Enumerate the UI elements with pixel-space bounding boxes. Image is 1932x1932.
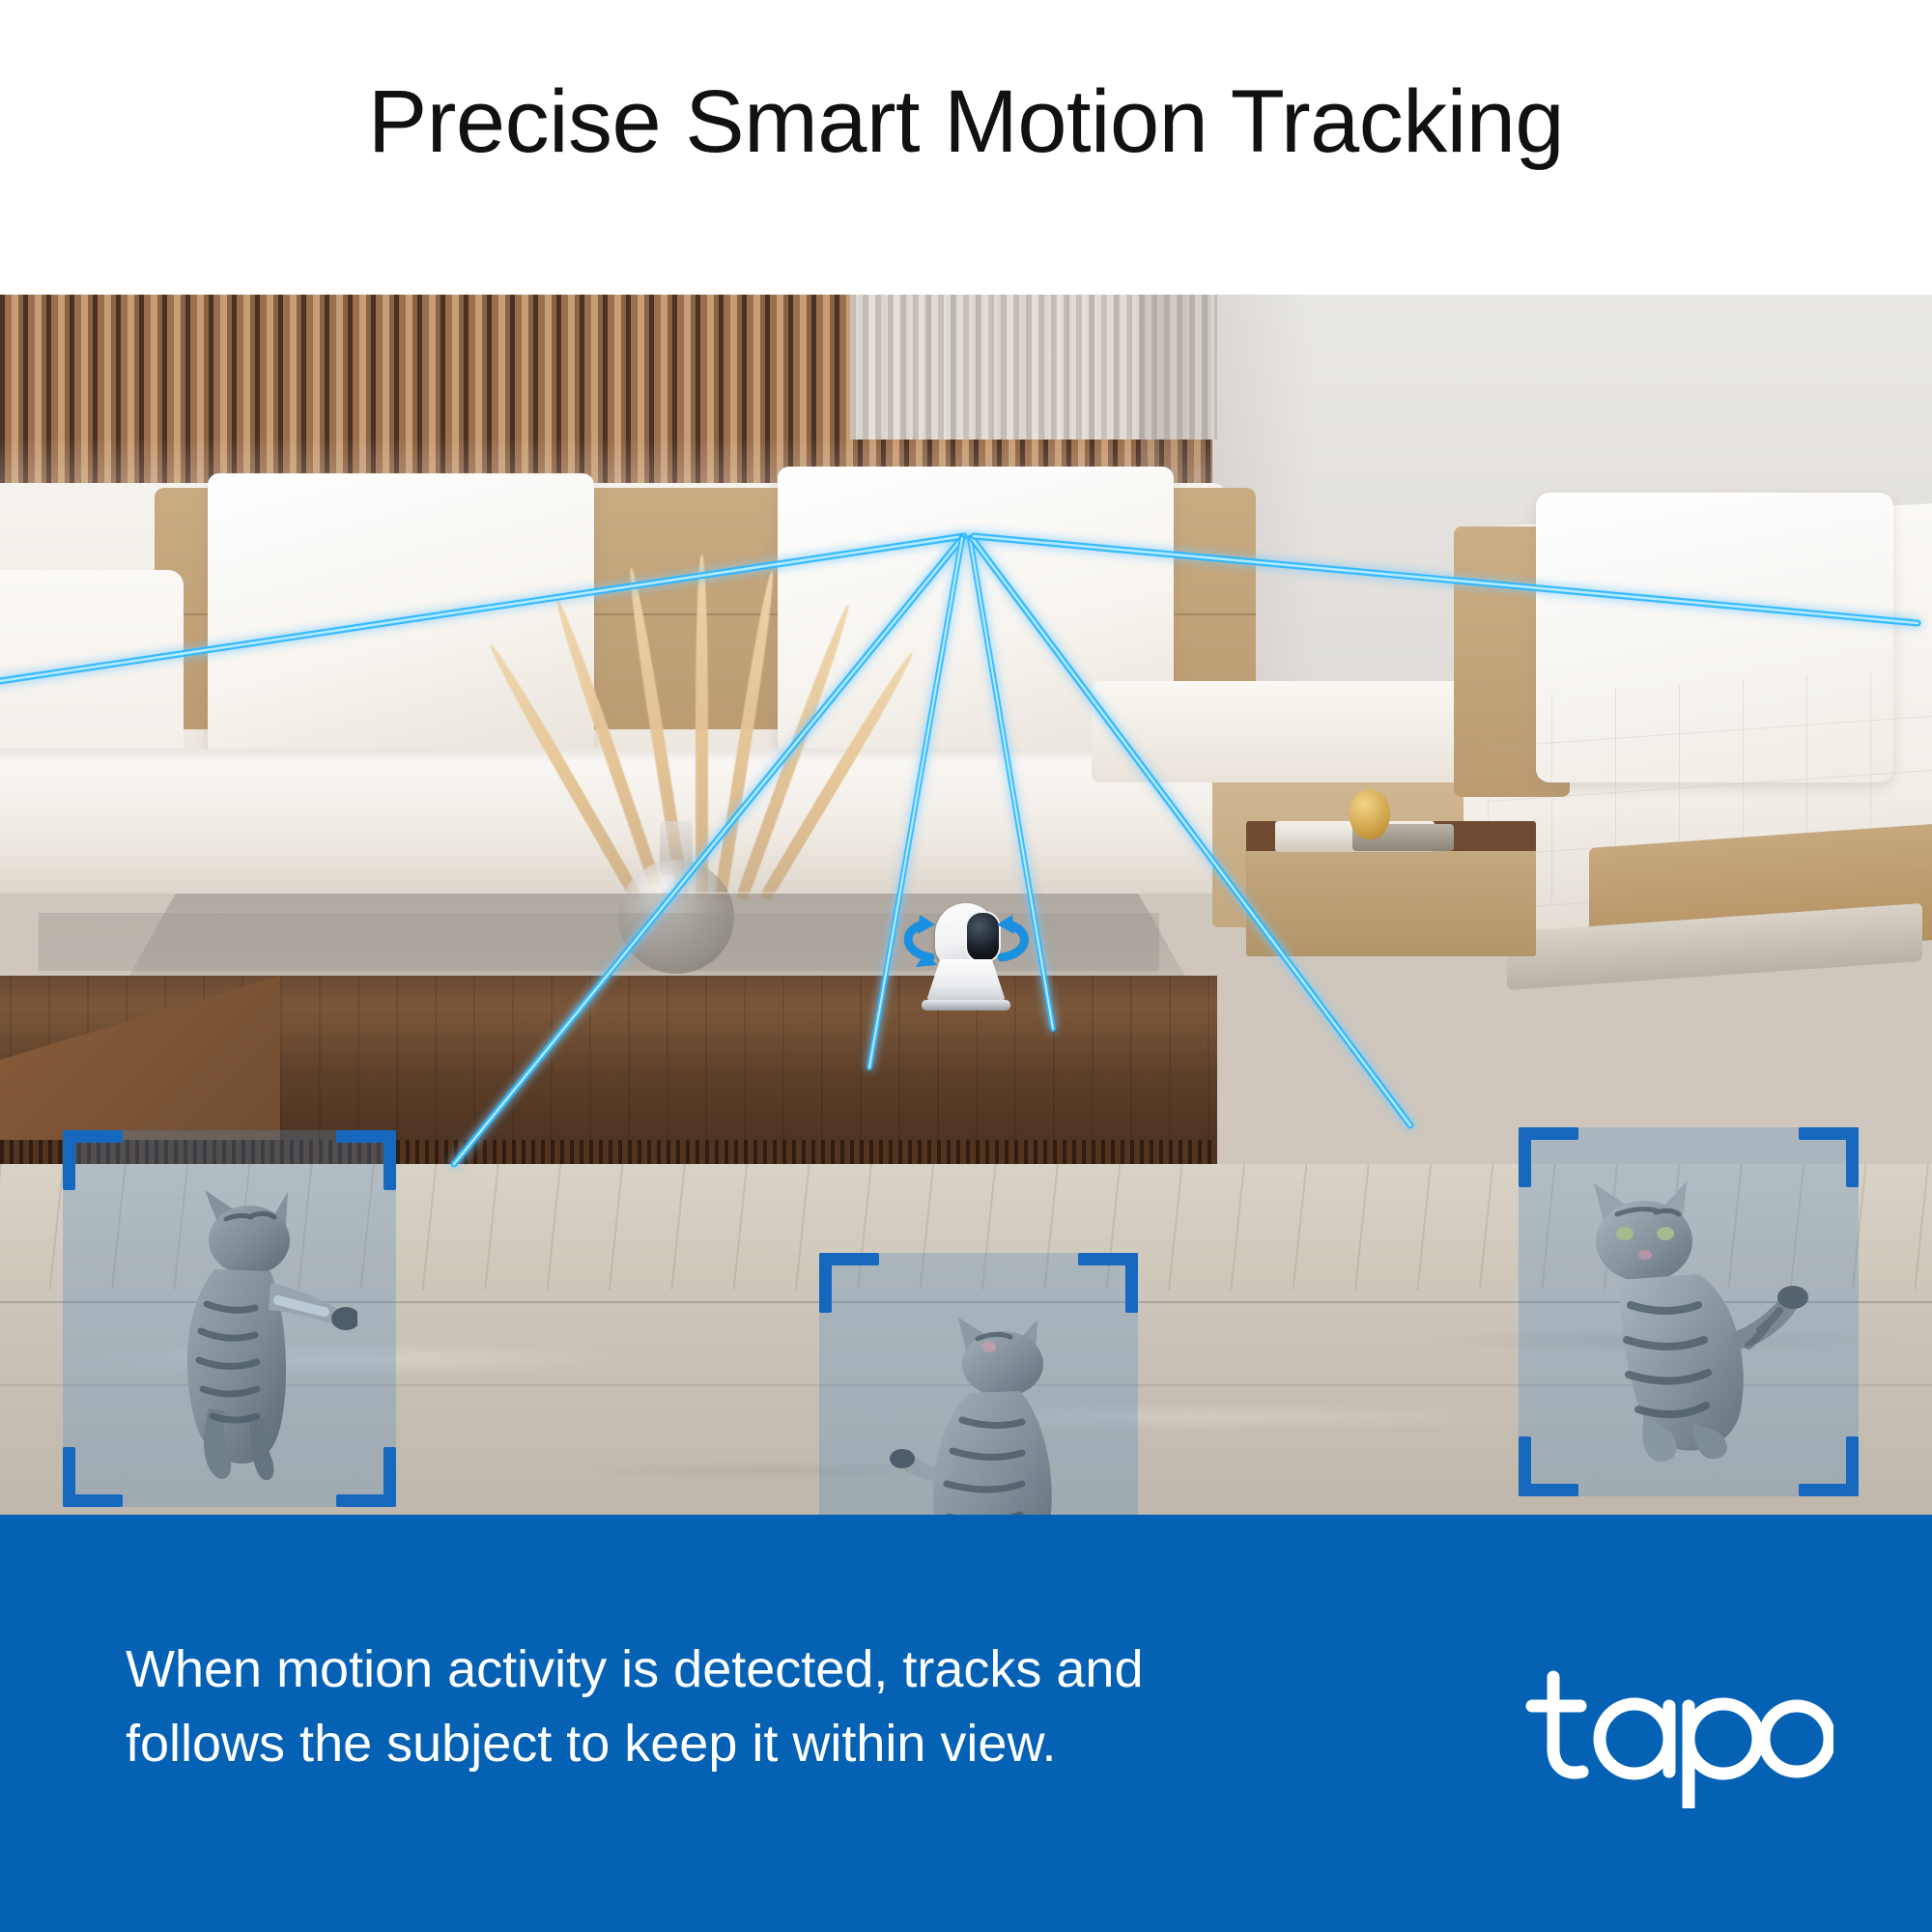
tracking-bracket-cat-center[interactable]	[819, 1253, 1138, 1515]
sofa-right-seat	[1092, 681, 1507, 782]
tapo-logo	[1524, 1663, 1833, 1808]
camera-rotation-arrows-icon	[887, 897, 1045, 990]
tapo-camera	[920, 903, 1012, 1014]
pampas-grass	[580, 580, 811, 898]
marketing-card: Precise Smart Motion Tracking	[0, 0, 1932, 1932]
hero-photo	[0, 295, 1932, 1515]
bracket-corner-bottom-left	[1519, 1436, 1578, 1496]
bracket-corner-top-right	[1078, 1253, 1138, 1313]
title-band: Precise Smart Motion Tracking	[0, 0, 1932, 295]
banner-caption-line-1: When motion activity is detected, tracks…	[126, 1633, 1381, 1707]
bracket-corner-top-left	[1519, 1127, 1578, 1187]
bracket-corner-bottom-right	[1799, 1436, 1859, 1496]
bracket-corner-top-right	[1799, 1127, 1859, 1187]
page-title: Precise Smart Motion Tracking	[0, 75, 1932, 169]
camera-foot	[922, 1000, 1010, 1010]
banner-caption-line-2: follows the subject to keep it within vi…	[126, 1707, 1381, 1781]
banner-caption: When motion activity is detected, tracks…	[126, 1633, 1381, 1780]
bracket-corner-bottom-right	[336, 1447, 396, 1507]
tracking-bracket-cat-right[interactable]	[1519, 1127, 1859, 1496]
gold-ornament	[1350, 789, 1390, 839]
bracket-corner-top-left	[819, 1253, 879, 1313]
bracket-corner-bottom-left	[63, 1447, 123, 1507]
bracket-corner-top-right	[336, 1130, 396, 1190]
bracket-corner-top-left	[63, 1130, 123, 1190]
tracking-bracket-cat-left[interactable]	[63, 1130, 396, 1507]
